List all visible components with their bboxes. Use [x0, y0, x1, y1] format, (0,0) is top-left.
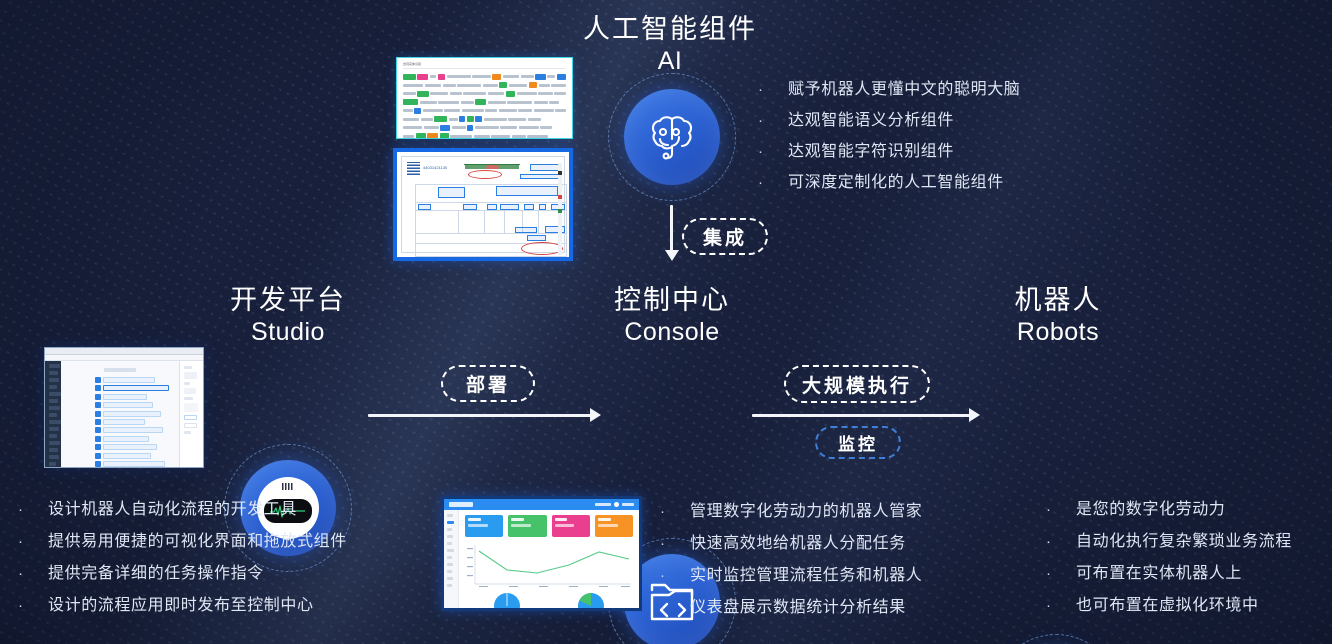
monitor-badge[interactable]: 监控: [815, 426, 901, 459]
dashboard-sidebar[interactable]: [444, 510, 459, 608]
console-node-title: 控制中心 Console: [572, 283, 772, 348]
bullet-dot: ·: [758, 74, 788, 105]
list-item: · 设计机器人自动化流程的开发工具: [18, 494, 347, 526]
bullet-text: 达观智能字符识别组件: [788, 136, 954, 167]
console-title-en: Console: [572, 317, 772, 348]
bullet-text: 达观智能语义分析组件: [788, 105, 954, 136]
list-item: · 仪表盘展示数据统计分析结果: [660, 592, 922, 624]
list-item: · 达观智能语义分析组件: [758, 105, 1020, 136]
bullet-dot: ·: [1046, 590, 1076, 622]
invoice-qr-icon: [407, 162, 420, 175]
list-item: · 赋予机器人更懂中文的聪明大脑: [758, 74, 1020, 105]
kpi-card[interactable]: [465, 515, 503, 537]
ai-bullet-list: · 赋予机器人更懂中文的聪明大脑 · 达观智能语义分析组件 · 达观智能字符识别…: [758, 74, 1020, 198]
list-item: · 可布置在实体机器人上: [1046, 558, 1292, 590]
ide-canvas-header: [104, 368, 135, 372]
ai-node-title: 人工智能组件 AI: [570, 12, 770, 77]
bullet-dot: ·: [18, 526, 48, 558]
bullet-dot: ·: [660, 592, 690, 624]
bullet-text: 实时监控管理流程任务和机器人: [690, 560, 922, 592]
studio-bullet-list: · 设计机器人自动化流程的开发工具 · 提供易用便捷的可视化界面和拖放式组件 ·…: [18, 494, 347, 622]
ai-node-icon[interactable]: [624, 89, 720, 185]
invoice-grid-line: [484, 210, 485, 233]
list-item: · 设计的流程应用即时发布至控制中心: [18, 590, 347, 622]
list-item: · 自动化执行复杂繁琐业务流程: [1046, 526, 1292, 558]
invoice-field-box: [545, 226, 565, 233]
bullet-dot: ·: [758, 136, 788, 167]
invoice-field-box: [438, 187, 465, 198]
avatar: [614, 502, 619, 507]
bullet-text: 仪表盘展示数据统计分析结果: [690, 592, 906, 624]
invoice-grid-line: [415, 184, 567, 185]
invoice-field-box: [539, 204, 546, 210]
deploy-arrow-line: [368, 414, 593, 417]
list-item: · 提供完备详细的任务操作指令: [18, 558, 347, 590]
dashboard-body: [444, 510, 639, 608]
bullet-dot: ·: [18, 494, 48, 526]
list-item[interactable]: [95, 444, 169, 450]
bullet-text: 可布置在实体机器人上: [1076, 558, 1242, 590]
studio-node-title: 开发平台 Studio: [188, 283, 388, 348]
invoice-code: 44031421130: [423, 165, 447, 170]
invoice-highlight-ellipse: [521, 242, 563, 255]
robots-title-en: Robots: [958, 317, 1158, 348]
list-item[interactable]: [95, 453, 169, 459]
invoice-title: [465, 165, 519, 169]
bullet-dot: ·: [660, 496, 690, 528]
list-item: · 可深度定制化的人工智能组件: [758, 167, 1020, 198]
dashboard-topbar-right: [595, 502, 634, 507]
studio-ide-screenshot[interactable]: [44, 347, 204, 468]
invoice-field-box: [520, 174, 562, 179]
large-scale-execution-badge[interactable]: 大规模执行: [784, 365, 930, 403]
invoice-field-box: [500, 204, 519, 210]
dashboard-topbar: [444, 499, 639, 510]
ide-properties-panel[interactable]: [179, 361, 203, 467]
invoice-field-box: [527, 235, 546, 241]
bullet-dot: ·: [1046, 526, 1076, 558]
list-item[interactable]: [95, 377, 169, 383]
ide-body: [45, 361, 203, 467]
invoice-side-marker: [558, 209, 562, 213]
list-item: · 是您的数字化劳动力: [1046, 494, 1292, 526]
list-item[interactable]: [95, 385, 169, 391]
kpi-card[interactable]: [595, 515, 633, 537]
invoice-grid-line: [415, 210, 567, 211]
console-dashboard-screenshot[interactable]: [441, 496, 642, 611]
invoice-grid-line: [458, 210, 459, 233]
bullet-dot: ·: [758, 105, 788, 136]
robots-title-cn: 机器人: [958, 283, 1158, 317]
doc-screenshot-body: [397, 72, 572, 139]
ide-flow-canvas[interactable]: [61, 361, 179, 467]
bullet-dot: ·: [1046, 558, 1076, 590]
bullet-text: 设计的流程应用即时发布至控制中心: [48, 590, 314, 622]
kpi-card[interactable]: [508, 515, 546, 537]
bullet-text: 提供易用便捷的可视化界面和拖放式组件: [48, 526, 347, 558]
list-item[interactable]: [95, 461, 169, 467]
pie-chart-right: [576, 591, 606, 611]
console-title-cn: 控制中心: [572, 283, 772, 317]
list-item: · 管理数字化劳动力的机器人管家: [660, 496, 922, 528]
studio-title-cn: 开发平台: [188, 283, 388, 317]
invoice-grid-line: [415, 202, 567, 203]
invoice-grid-line: [538, 210, 539, 233]
list-item: · 提供易用便捷的可视化界面和拖放式组件: [18, 526, 347, 558]
invoice-field-box: [524, 204, 534, 210]
list-item: · 达观智能字符识别组件: [758, 136, 1020, 167]
bullet-dot: ·: [18, 590, 48, 622]
bullet-text: 快速高效地给机器人分配任务: [690, 528, 906, 560]
list-item[interactable]: [95, 411, 169, 417]
execution-arrow-head: [969, 408, 980, 422]
bullet-text: 也可布置在虚拟化环境中: [1076, 590, 1259, 622]
bullet-text: 可深度定制化的人工智能组件: [788, 167, 1004, 198]
integrate-badge[interactable]: 集成: [682, 218, 768, 255]
invoice-field-box: [496, 186, 558, 196]
bullet-dot: ·: [660, 528, 690, 560]
bullet-text: 是您的数字化劳动力: [1076, 494, 1225, 526]
list-item[interactable]: [95, 427, 169, 433]
divider: [403, 68, 566, 69]
robot-antenna: [282, 483, 294, 490]
bullet-text: 提供完备详细的任务操作指令: [48, 558, 264, 590]
list-item[interactable]: [95, 394, 169, 400]
doc-screenshot-header: 合同实体识别: [397, 58, 572, 68]
invoice-grid-line: [415, 256, 567, 257]
invoice-field-box: [487, 204, 497, 210]
bullet-dot: ·: [758, 167, 788, 198]
kpi-card[interactable]: [552, 515, 590, 537]
bullet-text: 自动化执行复杂繁琐业务流程: [1076, 526, 1292, 558]
bullet-text: 管理数字化劳动力的机器人管家: [690, 496, 922, 528]
invoice-grid-line: [566, 184, 567, 257]
execution-arrow-line: [752, 414, 972, 417]
invoice-ocr-screenshot[interactable]: 44031421130: [393, 148, 573, 261]
dashboard-kpi-cards: [465, 515, 633, 537]
studio-title-en: Studio: [188, 317, 388, 348]
integrate-arrow-line: [670, 205, 673, 252]
list-item: · 也可布置在虚拟化环境中: [1046, 590, 1292, 622]
invoice-grid-line: [504, 210, 505, 233]
console-bullet-list: · 管理数字化劳动力的机器人管家 · 快速高效地给机器人分配任务 · 实时监控管…: [660, 496, 922, 624]
invoice-side-marker: [558, 195, 562, 199]
bullet-text: 赋予机器人更懂中文的聪明大脑: [788, 74, 1020, 105]
dashboard-pie-row: [465, 591, 633, 611]
deploy-arrow-head: [590, 408, 601, 422]
invoice-field-box: [463, 204, 477, 210]
invoice-highlight-ellipse: [468, 170, 502, 179]
invoice-side-marker: [558, 171, 562, 175]
deploy-badge[interactable]: 部署: [441, 365, 535, 402]
invoice-grid-line: [415, 184, 416, 257]
robots-node-title: 机器人 Robots: [958, 283, 1158, 348]
list-item: · 实时监控管理流程任务和机器人: [660, 560, 922, 592]
dashboard-line-chart: [465, 543, 633, 587]
bullet-dot: ·: [18, 558, 48, 590]
invoice-field-box: [418, 204, 431, 210]
invoice-canvas: 44031421130: [401, 156, 565, 253]
bullet-dot: ·: [660, 560, 690, 592]
list-item[interactable]: [95, 436, 169, 442]
list-item[interactable]: [95, 419, 169, 425]
list-item: · 快速高效地给机器人分配任务: [660, 528, 922, 560]
pie-chart-left: [492, 591, 522, 611]
dashboard-main: [459, 510, 639, 608]
dashboard-logo: [449, 502, 473, 507]
ide-titlebar: [45, 348, 203, 355]
bullet-dot: ·: [1046, 494, 1076, 526]
robots-bullet-list: · 是您的数字化劳动力 · 自动化执行复杂繁琐业务流程 · 可布置在实体机器人上…: [1046, 494, 1292, 622]
list-item[interactable]: [95, 402, 169, 408]
ai-title-cn: 人工智能组件: [570, 12, 770, 46]
invoice-field-box: [515, 227, 537, 233]
brain-circuit-icon: [624, 89, 720, 185]
invoice-grid-line: [415, 233, 567, 234]
ide-sidebar[interactable]: [45, 361, 61, 467]
integrate-arrow-head: [665, 250, 679, 261]
bullet-text: 设计机器人自动化流程的开发工具: [48, 494, 297, 526]
doc-ner-screenshot[interactable]: 合同实体识别: [396, 57, 573, 139]
